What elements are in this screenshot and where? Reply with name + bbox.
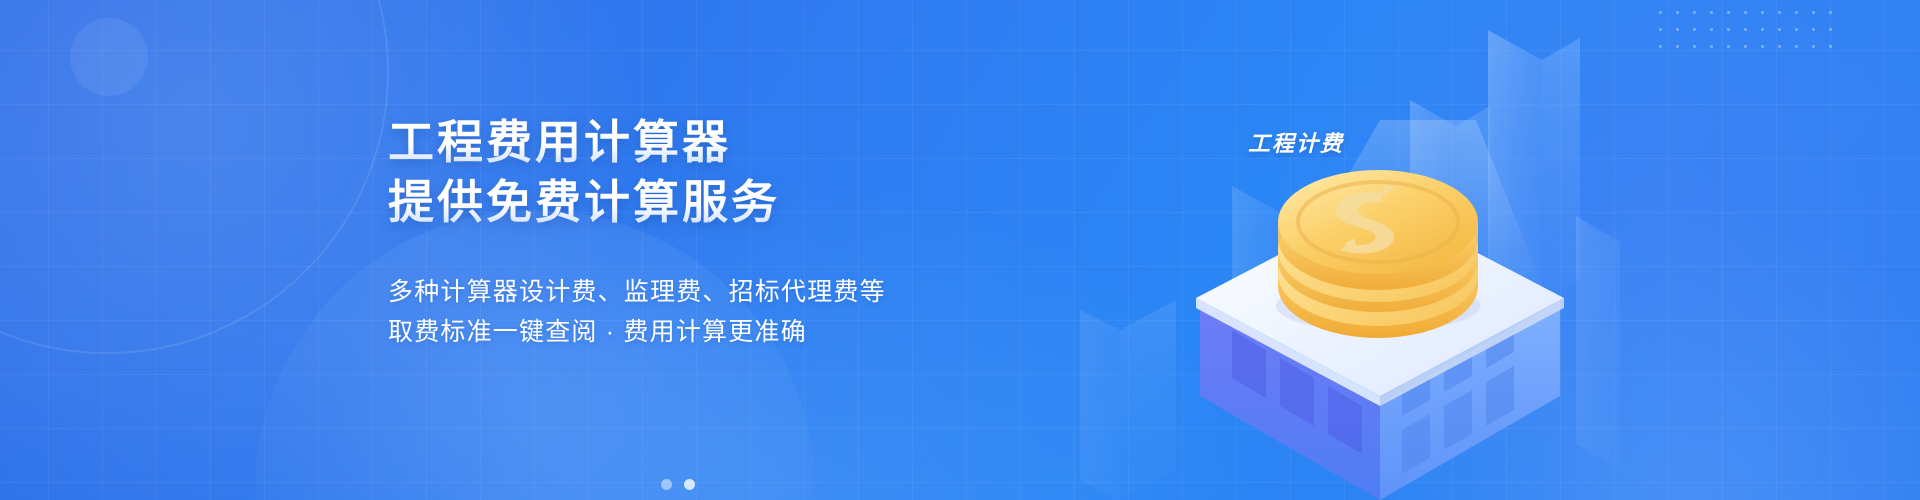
illustration-badge-label: 工程计费 [1248,126,1344,158]
promo-banner: 工程费用计算器 提供免费计算服务 多种计算器设计费、监理费、招标代理费等 取费标… [0,0,1920,500]
banner-copy-block: 工程费用计算器 提供免费计算服务 多种计算器设计费、监理费、招标代理费等 取费标… [388,112,886,352]
banner-headline-line-2: 提供免费计算服务 [388,172,886,232]
carousel-dots[interactable] [661,479,695,490]
background-circle-small [70,18,148,96]
carousel-dot-2[interactable] [684,479,695,490]
banner-headline-line-1: 工程费用计算器 [388,112,886,172]
banner-subtitle-line-2: 取费标准一键查阅 · 费用计算更准确 [388,312,886,352]
gold-coin-stack-icon [1276,170,1480,338]
isometric-city-coin-illustration [1080,0,1760,500]
banner-illustration: 工程计费 [1080,0,1760,500]
banner-subtitle-line-1: 多种计算器设计费、监理费、招标代理费等 [388,272,886,312]
carousel-dot-1[interactable] [661,479,672,490]
